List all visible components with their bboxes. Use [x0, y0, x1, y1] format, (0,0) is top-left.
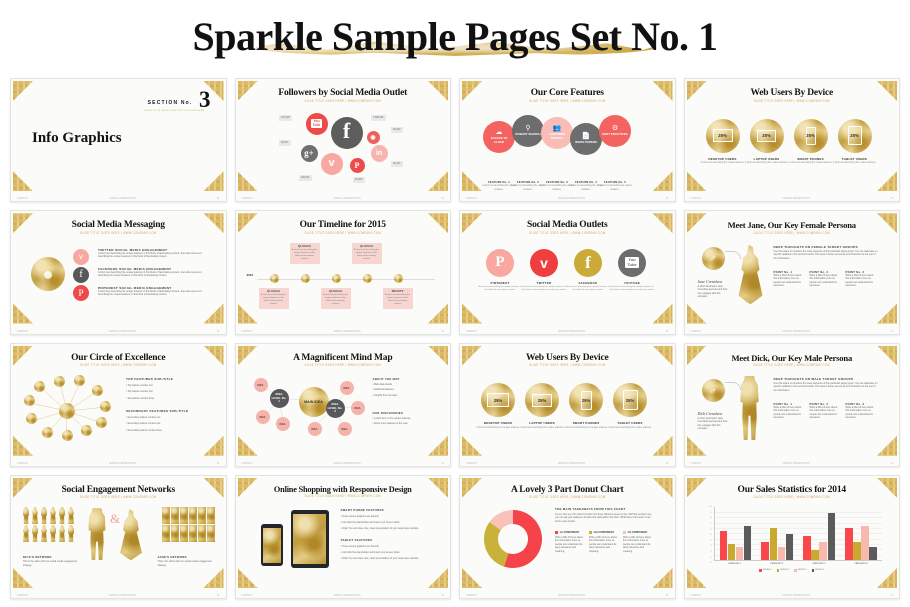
timeline-axis [257, 279, 436, 280]
phone-features-heading: SMART PHONE FEATURES [341, 508, 429, 512]
about-item: • Main idea details [373, 383, 429, 386]
idea-node[interactable]: IDEA [351, 401, 365, 415]
legend-color-swatch [623, 531, 626, 534]
idea-node[interactable]: IDEA [340, 381, 354, 395]
smartphone-mockup [261, 524, 283, 566]
twitter-icon: ᴠ [530, 249, 558, 277]
timeline-node-q2[interactable]: Q2 [301, 274, 310, 283]
footer-right: 01 [442, 462, 444, 465]
outlets-row: P PINTEREST A short text describing the … [467, 235, 668, 327]
lead-desc: Use this space to introduce the main ele… [774, 250, 878, 260]
feature-node-icon[interactable] [74, 375, 85, 386]
secondary-feature-item: • Secondary feature number one [126, 416, 204, 419]
device-stat-tablet[interactable]: 25% TABLET USERS A short text describing… [607, 383, 653, 430]
search-icon: ⚲ [525, 124, 530, 132]
footer-center: SPARKLE PRESENTATION [782, 595, 809, 598]
persona-point: POINT No. 3 Write a little bit here abou… [846, 271, 877, 288]
idea-level-1-label: IDEA LEVEL No. 1 [271, 393, 287, 404]
jane-network-desc: This is the effect with our social media… [158, 560, 214, 567]
legend-desc: Write a little bit here about this infor… [555, 536, 585, 553]
feature-node-icon[interactable] [26, 413, 37, 424]
persona-point: POINT No. 2 Write a little bit here abou… [810, 403, 841, 420]
footer-right: 01 [217, 462, 219, 465]
legend-desc: Write a little bit here about this infor… [589, 536, 619, 553]
footer-left: COMPANY [17, 462, 28, 465]
slide-title: Social Media Outlets [467, 220, 668, 230]
device-percent: 25% [762, 133, 770, 138]
legend-item-2: 2nd COMPONENT Write a little bit here ab… [589, 531, 619, 553]
footer-left: COMPANY [691, 198, 702, 201]
cloud-icon: ☁ [496, 128, 503, 136]
footer-right: 01 [666, 595, 668, 598]
timeline-card-title: Q4 GOALS [354, 245, 380, 248]
bar[interactable] [744, 526, 752, 560]
legend-desc: Write a little bit here about this infor… [623, 536, 653, 553]
facebook-node[interactable]: f [73, 267, 89, 283]
persona-point: POINT No. 2 Write a little bit here abou… [810, 271, 841, 288]
slide-title: Web Users By Device [467, 353, 668, 363]
timeline-node-q1[interactable]: Q1 [270, 274, 279, 283]
about-item: • Additional features [373, 388, 429, 391]
feature-node-icon[interactable] [100, 401, 111, 412]
timeline-card-desc: A short text describing the unique featu… [385, 294, 411, 307]
donut-slice[interactable] [484, 522, 508, 567]
phone-feature-item: • Just click the placeholder and insert … [341, 521, 429, 524]
device-stat-desktop[interactable]: 25% DESKTOP USERS A short text describin… [700, 119, 746, 166]
mind-map-diagram: MAIN IDEA IDEA LEVEL No. 1 IDEA LEVEL No… [243, 367, 444, 459]
persona-layout: ♂ Dick Crenshaw A short description Jane… [692, 367, 893, 459]
slide-followers-by-social-media-outlet[interactable]: Followers by Social Media Outlet SLIDE T… [235, 78, 452, 202]
footer-center: SPARKLE PRESENTATION [109, 330, 136, 333]
slide-title: Our Circle of Excellence [18, 353, 219, 363]
x-tick-label: CATEGORY 3 [798, 563, 840, 565]
persona-desc: A short description Jane Crenshaw person… [698, 285, 731, 299]
youtube-icon: YouTube [618, 249, 646, 277]
bar-chart-area: 109876543210 CATEGORY 1CATEGORY 2CATEGOR… [692, 499, 893, 591]
persona-name: Jane Crenshaw [698, 279, 731, 284]
engagement-networks: & DICK'S NETWORK [18, 499, 219, 591]
device-label: DESKTOP USERS [475, 421, 521, 425]
slide-title: Social Engagement Networks [18, 485, 219, 495]
dick-network-caption: DICK'S NETWORK This is the effect with o… [23, 555, 79, 567]
timeline-card-q2[interactable]: Q2 GOALS A short text describing the uni… [290, 243, 320, 264]
slide-title: Web Users By Device [692, 88, 893, 98]
bar[interactable] [770, 528, 778, 560]
device-label: LAPTOP USERS [744, 157, 790, 161]
slide-web-users-by-device-2[interactable]: Web Users By Device SLIDE TITLE GOES HER… [459, 343, 676, 467]
legend-color-swatch [759, 569, 761, 571]
footer-right: 01 [217, 198, 219, 201]
persona-silhouette-icon [736, 245, 766, 307]
twitter-node[interactable]: ᴠ [73, 249, 89, 265]
tablet-screen [293, 514, 326, 564]
slide-title: Meet Dick, Our Key Male Persona [692, 353, 893, 363]
idea-level-1-node[interactable]: IDEA LEVEL No. 1 [270, 389, 289, 408]
bar-group [720, 507, 752, 560]
googleplus-bubble[interactable]: g+ [301, 145, 318, 162]
tablet-icon: 25% [838, 119, 872, 153]
rss-bubble[interactable]: ◉ [367, 131, 380, 144]
legend-color-swatch [812, 569, 814, 571]
slide-title: A Magnificent Mind Map [243, 353, 444, 363]
timeline-card-q4[interactable]: Q4 GOALS A short text describing the uni… [352, 243, 382, 264]
outlet-label: FACEBOOK [565, 281, 611, 285]
persona-badge-icon: ♂ [702, 247, 725, 270]
legend-label: 2nd COMPONENT [594, 531, 614, 534]
follower-count-chip: 83,009 [391, 127, 403, 133]
slide-title: Social Media Messaging [18, 220, 219, 230]
feature-circle-label: BEST PRACTICES [602, 133, 628, 137]
footer-left: COMPANY [691, 462, 702, 465]
follower-count-chip: 26,909 [353, 177, 365, 183]
slide-sales-statistics[interactable]: Our Sales Statistics for 2014 SLIDE TITL… [684, 475, 901, 599]
timeline-card-q3[interactable]: Q3 GOALS A short text describing the uni… [321, 288, 351, 309]
idea-node[interactable]: IDEA [254, 378, 268, 392]
phone-screen [263, 528, 281, 563]
desktop-icon: 25% [481, 383, 515, 417]
messaging-diagram: ● ᴠ f P TWITTER SOCIAL MEDIA ENGAGEMENT … [18, 235, 219, 327]
follower-count-chip: 48,440 [391, 161, 403, 167]
footer-right: 01 [217, 330, 219, 333]
feature-desc: A short text describing the unique featu… [596, 185, 634, 192]
point-desc: Write a little bit here about this infor… [774, 406, 805, 420]
takeaway-desc: As you can see, this chart is broken int… [555, 513, 653, 523]
feature-circle-label: ACCESS TO CLOUD [486, 137, 512, 145]
outlet-pinterest[interactable]: P PINTEREST A short text describing the … [477, 249, 523, 293]
idea-node[interactable]: IDEA [338, 422, 352, 436]
discoveries-heading: OUR DISCOVERIES [373, 411, 429, 415]
point-desc: Write a little bit here about this infor… [846, 274, 877, 288]
feature-circle-robust-search[interactable]: ⚲ ROBUST SEARCH [512, 115, 544, 147]
feature-node-icon[interactable] [92, 385, 103, 396]
footer-center: SPARKLE PRESENTATION [109, 198, 136, 201]
slide-grid: SECTION No. 3 SUBTITLE OR SHORT DESCRIPT… [0, 72, 910, 607]
phone-feature-item: • Voila! You now have nice, clean presen… [341, 527, 429, 530]
bar-group [803, 507, 835, 560]
footer-center: SPARKLE PRESENTATION [333, 330, 360, 333]
follower-count-chip: 157,648 [279, 115, 293, 121]
feature-node-icon[interactable] [42, 427, 53, 438]
devices-mockup: SMART PHONE FEATURES • These device grap… [243, 498, 444, 591]
lead-desc: Use this space to introduce the main ele… [774, 382, 878, 392]
discoveries-item: • Some more features of the map [373, 422, 429, 425]
facebook-icon: f [343, 120, 350, 142]
bar[interactable] [861, 526, 869, 560]
feature-circle-customer-service[interactable]: 👥 CUSTOMER SERVICE [541, 117, 573, 149]
feature-caption: FEATURE No. 5 A short text describing th… [596, 181, 634, 192]
feature-circle-access-to-cloud[interactable]: ☁ ACCESS TO CLOUD [483, 121, 515, 153]
footer-right: 01 [891, 462, 893, 465]
footer-left: COMPANY [242, 198, 253, 201]
secondary-feature-item: • Secondary feature number three [126, 429, 204, 432]
outlet-twitter[interactable]: ᴠ TWITTER A short text describing the un… [521, 249, 567, 293]
bar[interactable] [786, 534, 794, 561]
message-row-twitter: TWITTER SOCIAL MEDIA ENGAGEMENT A short … [98, 248, 206, 259]
lead-heading: DEEP THOUGHTS ON FEMALE TARGET GROUPS [774, 245, 878, 249]
top-feature-item: • Top feature number one [126, 384, 204, 387]
message-row-pinterest: PINTEREST SOCIAL MEDIA ENGAGEMENT A shor… [98, 286, 206, 297]
twitter-bubble[interactable]: ᴠ [321, 153, 343, 175]
footer-right: 01 [666, 198, 668, 201]
idea-node[interactable]: IDEA [308, 422, 322, 436]
followers-diagram: f YouTube g+ ᴠ P [243, 103, 444, 195]
legend-color-swatch [794, 569, 796, 571]
google-plus-icon: g+ [304, 148, 314, 158]
slide-our-circle-of-excellence[interactable]: Our Circle of Excellence SLIDE TITLE GOE… [10, 343, 227, 467]
bar[interactable] [853, 542, 861, 561]
footer-center: SPARKLE PRESENTATION [558, 198, 585, 201]
phone-icon: 25% [569, 383, 603, 417]
timeline-node-q4[interactable]: Q4 [363, 274, 372, 283]
footer-right: 01 [442, 198, 444, 201]
device-desc: A short text describing the unique featu… [475, 427, 521, 430]
about-item: • Insights from the idea [373, 394, 429, 397]
top-features-block: TOP FEATURES SUB-TITLE • Top feature num… [126, 377, 204, 400]
outlet-label: YOUTUBE [609, 281, 655, 285]
footer-center: SPARKLE PRESENTATION [109, 595, 136, 598]
outlet-desc: A short text describing the unique featu… [521, 286, 567, 293]
slide-title: Meet Jane, Our Key Female Persona [692, 220, 893, 230]
bar[interactable] [736, 547, 744, 560]
feature-node-icon[interactable] [96, 417, 107, 428]
bar-group [761, 507, 793, 560]
top-feature-item: • Top feature number two [126, 390, 204, 393]
bar[interactable] [828, 513, 836, 561]
footer-right: 01 [891, 330, 893, 333]
outlet-youtube[interactable]: YouTube YOUTUBE A short text describing … [609, 249, 655, 293]
feature-circle-best-practices[interactable]: ⚙ BEST PRACTICES [599, 115, 631, 147]
about-the-map-block: ABOUT THE MAP • Main idea details • Addi… [373, 377, 429, 397]
device-percent: 25% [850, 133, 858, 138]
timeline-year: 2015 [247, 273, 254, 277]
pinterest-icon: P [355, 161, 360, 170]
section-title: Info Graphics [32, 130, 122, 147]
timeline-card-title: Q2 GOALS [292, 245, 318, 248]
jane-network-figures [155, 507, 215, 542]
laptop-icon: 25% [525, 383, 559, 417]
footer-left: COMPANY [466, 462, 477, 465]
feature-node-icon[interactable] [62, 430, 73, 441]
rss-icon: ◉ [370, 134, 375, 141]
timeline-node-results[interactable]: ★ [394, 274, 403, 283]
slide-a-magnificent-mind-map[interactable]: A Magnificent Mind Map SLIDE TITLE GOES … [235, 343, 452, 467]
pinterest-node[interactable]: P [73, 285, 89, 301]
footer-center: SPARKLE PRESENTATION [333, 595, 360, 598]
slide-meet-jane-persona[interactable]: Meet Jane, Our Key Female Persona SLIDE … [684, 210, 901, 334]
legend-label: SERIES 1 [763, 569, 772, 571]
device-desc: A short text describing the unique featu… [832, 162, 878, 165]
device-desc: A short text describing the unique featu… [519, 427, 565, 430]
slide-social-media-outlets[interactable]: Social Media Outlets SLIDE TITLE GOES HE… [459, 210, 676, 334]
footer-center: SPARKLE PRESENTATION [558, 462, 585, 465]
jane-network-caption: JANE'S NETWORK This is the effect with o… [158, 555, 214, 567]
bar[interactable] [811, 550, 819, 561]
timeline-card-title: RESULTS [385, 290, 411, 293]
ampersand-symbol: & [110, 511, 120, 527]
top-features-heading: TOP FEATURES SUB-TITLE [126, 377, 204, 381]
device-stat-desktop[interactable]: 25% DESKTOP USERS A short text describin… [475, 383, 521, 430]
section-number: 3 [199, 88, 211, 111]
linkedin-icon: in [376, 150, 382, 157]
persona-caption: Jane Crenshaw A short description Jane C… [698, 279, 731, 299]
message-desc: A short text describing the unique featu… [98, 271, 206, 278]
secondary-features-heading: SECONDARY FEATURES SUB-TITLE [126, 409, 204, 413]
bar[interactable] [845, 528, 853, 560]
legend-item-1: 1st COMPONENT Write a little bit here ab… [555, 531, 585, 553]
device-stat-laptop[interactable]: 25% LAPTOP USERS A short text describing… [744, 119, 790, 166]
slide-donut-chart[interactable]: A Lovely 3 Part Donut Chart SLIDE TITLE … [459, 475, 676, 599]
youtube-icon: YouTube [311, 119, 323, 128]
persona-badge-icon: ♂ [702, 379, 725, 402]
bar-chart[interactable] [714, 507, 883, 561]
timeline-card-title: Q3 GOALS [323, 290, 349, 293]
feature-node-icon[interactable] [81, 425, 92, 436]
slide-title: Our Core Features [467, 88, 668, 98]
laptop-icon: 25% [750, 119, 784, 153]
pinterest-bubble[interactable]: P [350, 158, 365, 173]
slide-online-shopping-responsive-design[interactable]: Online Shopping with Responsive Design S… [235, 475, 452, 599]
feature-node-icon[interactable] [54, 376, 65, 387]
bar[interactable] [803, 536, 811, 560]
dick-silhouette-icon [86, 508, 108, 560]
secondary-feature-item: • Secondary feature number two [126, 422, 204, 425]
persona-connector [725, 382, 741, 390]
timeline-card-desc: A short text describing the unique featu… [323, 294, 349, 307]
slide-social-engagement-networks[interactable]: Social Engagement Networks SLIDE TITLE G… [10, 475, 227, 599]
device-percent: 25% [626, 398, 634, 403]
feature-node-icon[interactable] [24, 395, 35, 406]
footer-center: SPARKLE PRESENTATION [782, 330, 809, 333]
legend-label: 1st COMPONENT [560, 531, 580, 534]
device-label: DESKTOP USERS [700, 157, 746, 161]
slide-section-divider[interactable]: SECTION No. 3 SUBTITLE OR SHORT DESCRIPT… [10, 78, 227, 202]
dick-network-desc: This is the effect with our social media… [23, 560, 79, 567]
device-label: SMART PHONES [788, 157, 834, 161]
outlet-facebook[interactable]: f FACEBOOK A short text describing the u… [565, 249, 611, 293]
timeline-card-results[interactable]: RESULTS A short text describing the uniq… [383, 288, 413, 309]
idea-node[interactable]: IDEA [256, 410, 270, 424]
timeline-node-q3[interactable]: Q3 [332, 274, 341, 283]
idea-node[interactable]: IDEA [276, 417, 290, 431]
outlet-label: PINTEREST [477, 281, 523, 285]
youtube-bubble[interactable]: YouTube [306, 113, 328, 135]
slide-our-timeline-for-2015[interactable]: Our Timeline for 2015 SLIDE TITLE GOES H… [235, 210, 452, 334]
bar-chart-x-labels: CATEGORY 1CATEGORY 2CATEGORY 3CATEGORY 4 [714, 563, 883, 565]
tablet-icon: 25% [613, 383, 647, 417]
bar[interactable] [720, 531, 728, 560]
point-desc: Write a little bit here about this infor… [846, 406, 877, 420]
device-desc: A short text describing the unique featu… [788, 162, 834, 165]
persona-point: POINT No. 1 Write a little bit here abou… [774, 271, 805, 288]
outlet-desc: A short text describing the unique featu… [565, 286, 611, 293]
page-header: Sparkle Sample Pages Set No. 1 [0, 0, 910, 72]
outlet-label: TWITTER [521, 281, 567, 285]
slide-web-users-by-device-1[interactable]: Web Users By Device SLIDE TITLE GOES HER… [684, 78, 901, 202]
bar[interactable] [728, 544, 736, 560]
feature-circle-label: WHITE PAPERS [573, 141, 599, 145]
footer-left: COMPANY [466, 198, 477, 201]
tablet-feature-item: • These device graphics are framed! [341, 545, 429, 548]
footer-center: SPARKLE PRESENTATION [782, 462, 809, 465]
slide-social-media-messaging[interactable]: Social Media Messaging SLIDE TITLE GOES … [10, 210, 227, 334]
device-desc: A short text describing the unique featu… [744, 162, 790, 165]
bar[interactable] [778, 547, 786, 560]
bar[interactable] [869, 547, 877, 560]
x-tick-label: CATEGORY 2 [756, 563, 798, 565]
facebook-icon: f [574, 249, 602, 277]
bar[interactable] [819, 542, 827, 561]
device-desc: A short text describing the unique featu… [700, 162, 746, 165]
smart-phone-features-block: SMART PHONE FEATURES • These device grap… [341, 508, 429, 530]
slide-title: A Lovely 3 Part Donut Chart [467, 485, 668, 495]
feature-node-icon[interactable] [34, 381, 45, 392]
takeaway-heading: THE MAIN TAKEAWAYS FROM THIS CHART [555, 507, 653, 511]
footer-right: 01 [891, 595, 893, 598]
legend-label: SERIES 3 [798, 569, 807, 571]
linkedin-bubble[interactable]: in [371, 145, 388, 162]
jane-silhouette-icon [118, 509, 144, 561]
phone-icon: 25% [794, 119, 828, 153]
twitter-icon: ᴠ [79, 252, 83, 261]
slide-title: Online Shopping with Responsive Design [243, 485, 444, 494]
slide-title: Our Sales Statistics for 2014 [692, 485, 893, 495]
footer-right: 01 [442, 330, 444, 333]
feature-number: FEATURE No. 5 [596, 181, 634, 184]
lead-heading: DEEP THOUGHTS ON MALE TARGET GROUPS [774, 377, 878, 381]
feature-circle-white-papers[interactable]: 📄 WHITE PAPERS [570, 123, 602, 155]
facebook-bubble[interactable]: f [331, 117, 363, 149]
device-stat-tablet[interactable]: 25% TABLET USERS A short text describing… [832, 119, 878, 166]
device-stat-phone[interactable]: 25% SMART PHONES A short text describing… [788, 119, 834, 166]
feature-circle-label: CUSTOMER SERVICE [544, 133, 570, 141]
point-desc: Write a little bit here about this infor… [810, 406, 841, 420]
device-percent: 25% [494, 398, 502, 403]
people-icon: 👥 [553, 124, 562, 132]
outlet-desc: A short text describing the unique featu… [609, 286, 655, 293]
slide-meet-dick-persona[interactable]: Meet Dick, Our Key Male Persona SLIDE TI… [684, 343, 901, 467]
persona-lead: DEEP THOUGHTS ON MALE TARGET GROUPS Use … [774, 377, 878, 392]
donut-chart[interactable] [481, 507, 545, 571]
main-idea-node[interactable]: MAIN IDEA [299, 387, 329, 417]
footer-center: SPARKLE PRESENTATION [558, 595, 585, 598]
message-row-facebook: FACEBOOK SOCIAL MEDIA ENGAGEMENT A short… [98, 267, 206, 278]
device-label: LAPTOP USERS [519, 421, 565, 425]
device-stat-phone[interactable]: 25% SMART PHONES A short text describing… [563, 383, 609, 430]
takeaways-block: THE MAIN TAKEAWAYS FROM THIS CHART As yo… [555, 507, 653, 523]
slide-our-core-features[interactable]: Our Core Features SLIDE TITLE GOES HERE … [459, 78, 676, 202]
footer-left: COMPANY [17, 330, 28, 333]
timeline-card-desc: A short text describing the unique featu… [261, 294, 287, 307]
tablet-mockup [291, 510, 329, 568]
device-percent: 25% [806, 133, 814, 138]
device-desc: A short text describing the unique featu… [607, 427, 653, 430]
device-label: TABLET USERS [832, 157, 878, 161]
device-label: SMART PHONES [563, 421, 609, 425]
discoveries-item: • A short text on the unique features [373, 417, 429, 420]
bar-chart-legend: SERIES 1SERIES 2SERIES 3SERIES 4 [692, 569, 893, 571]
device-stat-laptop[interactable]: 25% LAPTOP USERS A short text describing… [519, 383, 565, 430]
timeline-card-q1[interactable]: Q1 GOALS A short text describing the uni… [259, 288, 289, 309]
timeline-card-desc: A short text describing the unique featu… [354, 249, 380, 262]
feature-circle-label: ROBUST SEARCH [515, 133, 541, 137]
footer-center: SPARKLE PRESENTATION [333, 198, 360, 201]
persona-connector [725, 251, 741, 259]
bar[interactable] [761, 542, 769, 561]
footer-left: COMPANY [242, 330, 253, 333]
timeline-card-title: Q1 GOALS [261, 290, 287, 293]
legend-entry: SERIES 4 [812, 569, 824, 571]
idea-level-2-node[interactable]: IDEA LEVEL No. 2 [326, 399, 345, 418]
